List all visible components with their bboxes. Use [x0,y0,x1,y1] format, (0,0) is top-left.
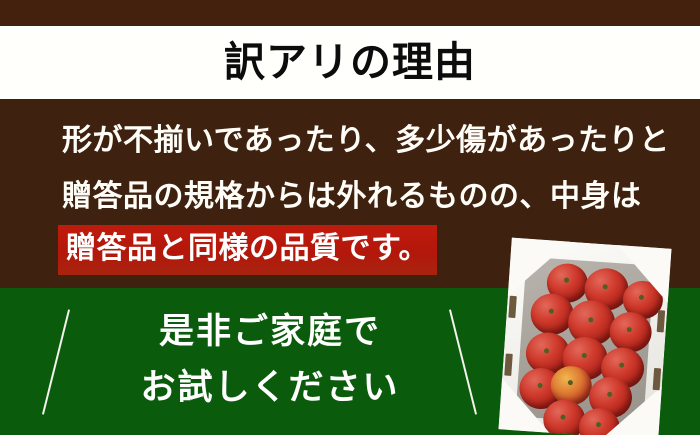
slash-decoration-left-icon [42,309,70,414]
call-to-action-text-block: 是非ご家庭で お試しください [90,304,450,416]
tomato-stem-icon [596,422,601,427]
tomato-stem-icon [627,327,632,332]
top-brown-rule [0,0,700,26]
tomato-stem-icon [619,363,624,368]
tomato-stem-icon [548,309,553,314]
cardboard-box [498,238,671,435]
box-interior [515,257,654,426]
slash-decoration-right-icon [449,309,477,414]
tomato-stem-icon [544,348,549,353]
box-tab-right-lower [653,368,662,390]
box-tab-left-upper [508,296,517,318]
tomato-stem-icon [537,383,542,388]
call-to-action-line-2: お試しください [90,360,450,416]
promo-banner: 訳アリの理由 形が不揃いであったり、多少傷があったりと 贈答品の規格からは外れる… [0,0,700,435]
header-strip: 訳アリの理由 [0,26,700,99]
tomato-stem-icon [561,414,566,419]
page-title: 訳アリの理由 [224,42,476,83]
tomato-stem-icon [603,284,608,289]
call-to-action-line-1: 是非ご家庭で [90,304,450,360]
description-line-1: 形が不揃いであったり、多少傷があったりと [62,113,662,169]
description-line-2: 贈答品の規格からは外れるものの、中身は [62,169,662,225]
quality-highlight-text: 贈答品と同様の品質です。 [58,225,437,275]
box-tab-left-lower [504,354,513,376]
tomato-box-photo [498,238,671,435]
tomato-stem-icon [607,392,612,397]
tomato-stem-icon [639,295,644,300]
box-tab-right-upper [657,310,666,332]
tomato-stem-icon [564,278,569,283]
tomato-stem-icon [581,353,586,358]
tomato-stem-icon [588,317,593,322]
tomato-stem-icon [568,380,573,385]
